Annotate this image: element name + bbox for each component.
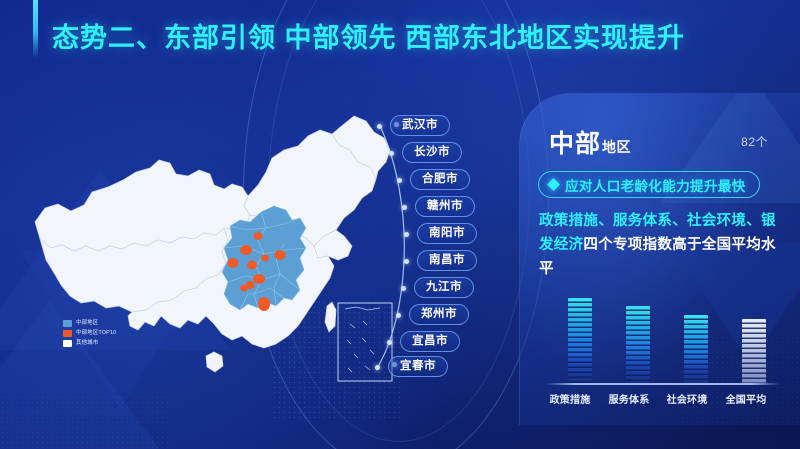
city-dot-4 — [404, 232, 409, 237]
city-dot-9 — [375, 365, 380, 370]
city-dot-1 — [389, 151, 394, 156]
panel-body-text: 政策措施、服务体系、社会环境、银发经济四个专项指数高于全国平均水平 — [539, 209, 787, 281]
city-chip-yichun[interactable]: 宜春市 — [388, 356, 448, 377]
bar-0 — [568, 298, 592, 383]
city-dot-7 — [396, 313, 401, 318]
city-chip-ganzhou[interactable]: 赣州市 — [415, 196, 475, 217]
index-bar-chart: 政策措施 服务体系 社会环境 全国平均 — [540, 291, 786, 411]
chart-x-label-2: 社会环境 — [658, 391, 716, 406]
city-chip-jiujiang[interactable]: 九江市 — [414, 277, 474, 298]
city-chip-changsha[interactable]: 长沙市 — [402, 142, 462, 163]
legend-swatch-other — [63, 340, 72, 347]
city-chip-nanyang[interactable]: 南阳市 — [417, 223, 477, 244]
city-dot-5 — [404, 259, 409, 264]
bar-3-stripes — [742, 319, 766, 383]
legend-item-central: 中部地区 — [63, 320, 116, 327]
legend-label-other: 其他城市 — [76, 340, 98, 347]
legend-label-top10: 中部地区TOP10 — [76, 330, 116, 337]
panel-heading: 中部 地区 — [549, 124, 631, 160]
city-dot-8 — [387, 340, 392, 345]
city-dot-0 — [377, 124, 382, 129]
panel-city-count: 82个 — [741, 133, 768, 150]
map-legend: 中部地区 中部地区TOP10 其他城市 — [63, 320, 116, 350]
chart-x-label-3: 全国平均 — [716, 391, 776, 406]
map-taiwan — [325, 302, 336, 332]
page-title: 态势二、东部引领 中部领先 西部东北地区实现提升 — [52, 16, 685, 55]
chart-x-label-1: 服务体系 — [600, 391, 658, 406]
bar-2-stripes — [684, 315, 708, 383]
panel-region-suffix: 地区 — [602, 137, 631, 157]
china-map-svg — [18, 88, 418, 428]
city-dot-3 — [402, 205, 407, 210]
panel-region-main: 中部 — [549, 124, 601, 160]
city-dot-2 — [397, 178, 402, 183]
city-chip-nanchang[interactable]: 南昌市 — [417, 250, 477, 271]
city-chip-wuhan[interactable]: 武汉市 — [390, 115, 450, 136]
diamond-icon — [547, 178, 560, 191]
city-chip-hefei[interactable]: 合肥市 — [410, 169, 470, 190]
chart-x-label-0: 政策措施 — [540, 391, 600, 406]
city-dot-6 — [401, 286, 406, 291]
legend-label-central: 中部地区 — [76, 320, 98, 327]
legend-swatch-top10 — [63, 330, 72, 337]
bar-0-stripes — [568, 298, 592, 383]
city-chip-zhengzhou[interactable]: 郑州市 — [409, 304, 469, 325]
legend-item-other: 其他城市 — [63, 340, 116, 347]
chart-plot-area — [546, 291, 780, 383]
bar-1 — [626, 306, 650, 383]
title-bar: 态势二、东部引领 中部领先 西部东北地区实现提升 — [0, 0, 800, 72]
city-callout-list: 武汉市 长沙市 合肥市 赣州市 南阳市 南昌市 九江市 郑州市 宜昌市 宜春市 — [372, 112, 522, 380]
bar-1-stripes — [626, 306, 650, 383]
legend-item-top10: 中部地区TOP10 — [63, 330, 116, 337]
chart-axis-line — [546, 383, 780, 385]
slide-canvas: 态势二、东部引领 中部领先 西部东北地区实现提升 — [0, 0, 800, 449]
title-accent-bar — [33, 0, 38, 58]
bar-2 — [684, 315, 708, 383]
region-info-panel: 中部 地区 82个 应对人口老龄化能力提升最快 政策措施、服务体系、社会环境、银… — [519, 93, 800, 425]
legend-swatch-central — [63, 320, 72, 327]
chart-x-labels: 政策措施 服务体系 社会环境 全国平均 — [540, 391, 780, 406]
bar-3 — [742, 319, 766, 383]
panel-badge-label: 应对人口老龄化能力提升最快 — [565, 175, 746, 195]
panel-highlight-badge: 应对人口老龄化能力提升最快 — [538, 171, 760, 198]
china-map — [18, 88, 418, 428]
city-chip-yichang[interactable]: 宜昌市 — [400, 331, 460, 352]
